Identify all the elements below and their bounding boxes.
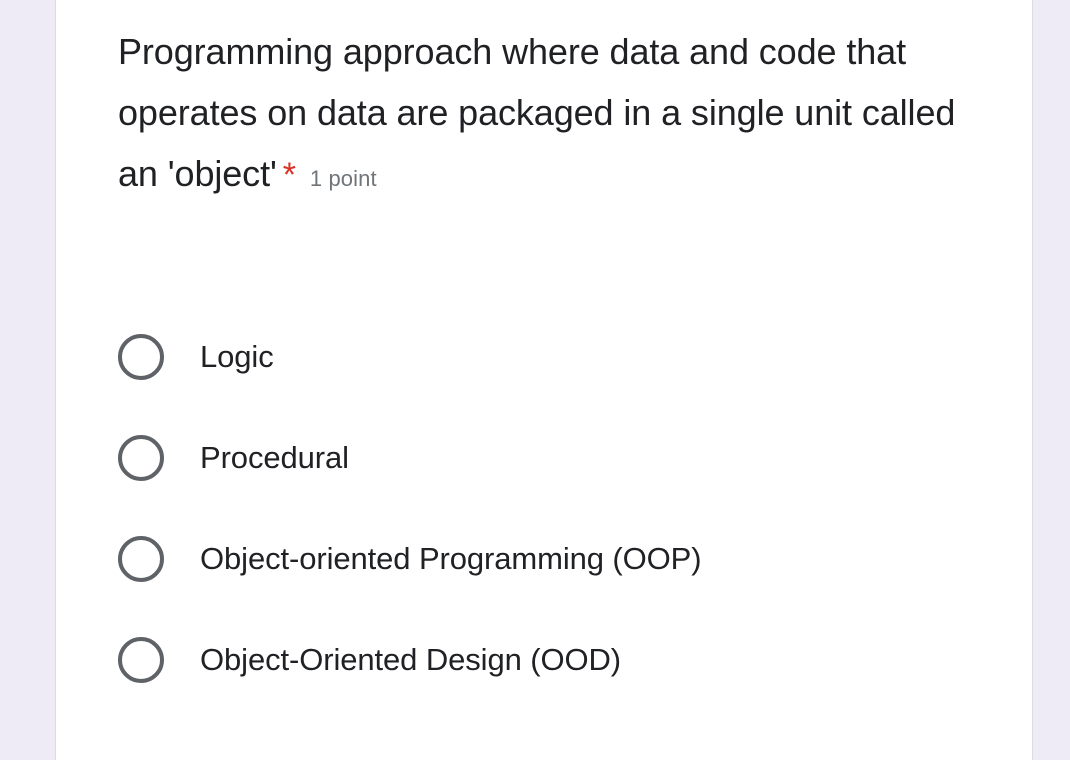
options-list: Logic Procedural Object-oriented Program… (56, 306, 1032, 710)
radio-button-icon[interactable] (118, 334, 164, 380)
question-card: Programming approach where data and code… (55, 0, 1033, 760)
option-row-procedural[interactable]: Procedural (56, 407, 1032, 508)
question-text: Programming approach where data and code… (118, 31, 955, 194)
option-label: Object-oriented Programming (OOP) (200, 540, 701, 578)
radio-button-icon[interactable] (118, 536, 164, 582)
option-row-logic[interactable]: Logic (56, 306, 1032, 407)
point-value-label: 1 point (310, 166, 377, 191)
option-row-oop[interactable]: Object-oriented Programming (OOP) (56, 508, 1032, 609)
question-title: Programming approach where data and code… (118, 21, 998, 209)
form-page: Programming approach where data and code… (0, 0, 1070, 714)
option-label: Procedural (200, 439, 349, 477)
radio-button-icon[interactable] (118, 637, 164, 683)
radio-button-icon[interactable] (118, 435, 164, 481)
required-asterisk-icon: * (283, 156, 296, 194)
option-label: Logic (200, 338, 274, 376)
option-label: Object-Oriented Design (OOD) (200, 641, 621, 679)
question-card-content: Programming approach where data and code… (56, 0, 1032, 714)
option-row-ood[interactable]: Object-Oriented Design (OOD) (56, 609, 1032, 710)
